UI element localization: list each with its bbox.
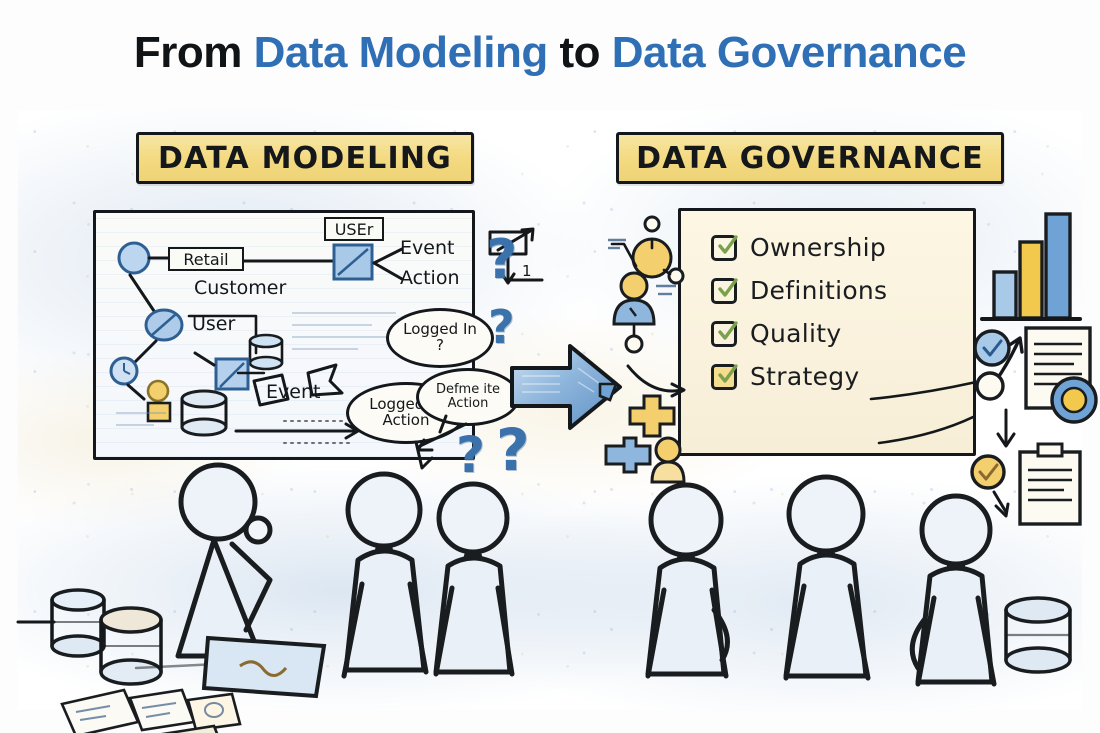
seated-figure-icon: [648, 485, 727, 676]
entity-label-event-mid: Event: [266, 381, 320, 403]
person-avatar-icon: [614, 273, 654, 324]
sketch-canvas: DATA MODELING: [18, 110, 1082, 710]
entity-label-customer: Customer: [194, 277, 286, 299]
checkbox-strategy[interactable]: [711, 364, 737, 390]
bar-chart-icon: [982, 214, 1080, 319]
title-part-to: to: [548, 28, 612, 77]
title-part-data-modeling: Data Modeling: [254, 28, 548, 77]
title-part-data-governance: Data Governance: [612, 28, 966, 77]
gear-circle-icon: [1052, 378, 1096, 422]
banner-data-governance: DATA GOVERNANCE: [616, 132, 1004, 184]
governance-left-icons: [606, 214, 686, 464]
checklist-label: Definitions: [750, 276, 887, 305]
checklist-item-quality[interactable]: Quality: [711, 319, 887, 348]
blue-square-icon: [600, 384, 616, 400]
checklist-item-ownership[interactable]: Ownership: [711, 233, 887, 262]
governance-right-icons: [968, 200, 1098, 500]
entity-label-action-top: Action: [400, 267, 460, 289]
checklist-label: Ownership: [750, 233, 886, 262]
plus-cross-icon: [630, 396, 674, 436]
seated-figure-icon: [436, 484, 512, 674]
entity-label-event-top: Event: [400, 237, 454, 259]
infographic-root: From Data Modeling to Data Governance DA…: [0, 0, 1100, 733]
checklist-label: Strategy: [750, 362, 860, 391]
checklist-item-definitions[interactable]: Definitions: [711, 276, 887, 305]
database-cylinder-icon: [52, 590, 104, 656]
governance-whiteboard: Ownership Definitions: [678, 208, 976, 456]
counter-value-text: 1: [522, 262, 532, 280]
checklist-connectors: [871, 371, 976, 456]
checkbox-ownership[interactable]: [711, 235, 737, 261]
governance-checklist: Ownership Definitions: [711, 233, 887, 391]
question-mark-icon: ?: [486, 228, 517, 291]
banner-data-governance-label: DATA GOVERNANCE: [636, 141, 984, 176]
node-circle-icon: [977, 373, 1003, 399]
entity-tag-user-upper: USEr: [324, 217, 384, 241]
seated-figure-icon: [786, 477, 868, 678]
banner-data-modeling-label: DATA MODELING: [158, 141, 452, 176]
banner-data-modeling: DATA MODELING: [136, 132, 474, 184]
checkmark-icon: [717, 363, 739, 385]
paper-documents-icon: [62, 690, 240, 733]
checkbox-definitions[interactable]: [711, 278, 737, 304]
network-node-icon: [612, 217, 683, 283]
database-cylinder-icon: [1006, 598, 1070, 672]
title-part-from: From: [134, 28, 254, 77]
checkmark-icon: [717, 320, 739, 342]
checkmark-icon: [717, 234, 739, 256]
checklist-label: Quality: [750, 319, 841, 348]
presenter-figure-icon: [178, 465, 270, 656]
database-cylinder-icon: [101, 608, 161, 684]
modeling-scene: [18, 460, 518, 710]
seated-figure-icon: [344, 474, 426, 676]
checkmark-icon: [717, 277, 739, 299]
seated-figure-icon: [912, 496, 994, 684]
page-title: From Data Modeling to Data Governance: [0, 28, 1100, 78]
checklist-item-strategy[interactable]: Strategy: [711, 362, 887, 391]
tablet-icon: [204, 638, 324, 696]
governance-scene: [618, 460, 1082, 710]
checkbox-quality[interactable]: [711, 321, 737, 347]
check-circle-icon: [975, 331, 1009, 365]
entity-tag-retail: Retail: [168, 247, 244, 271]
entity-label-user: User: [192, 313, 235, 335]
